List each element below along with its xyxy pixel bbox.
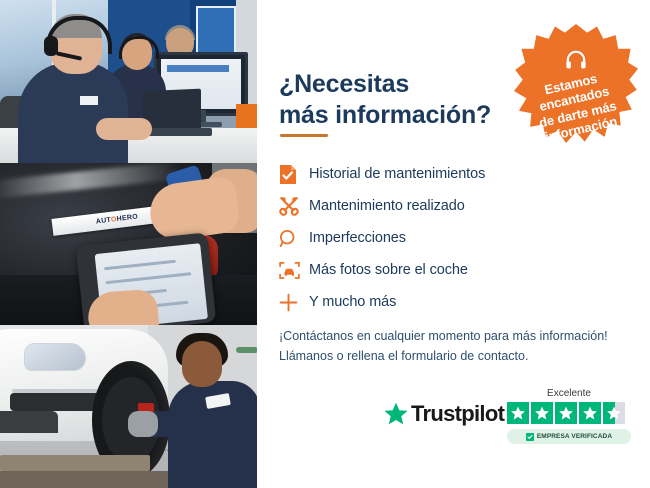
mechanic-head: [182, 341, 222, 387]
feature-item-imperfections: Imperfecciones: [279, 222, 619, 254]
photo-collage: AUTOHERO: [0, 0, 257, 488]
support-badge: Estamos encantados de darte más informac…: [514, 24, 638, 148]
photo-mechanic-inspecting-wheel-on-lift: [0, 325, 257, 488]
star-filled: [507, 402, 529, 424]
feature-item-maintenance-history: Historial de mantenimientos: [279, 158, 619, 190]
lift-platform-lower: [0, 471, 168, 488]
trustpilot-wordmark: Trustpilot: [411, 401, 504, 427]
feature-list: Historial de mantenimientos: [279, 158, 619, 318]
star-half: [603, 402, 625, 424]
wrench-screwdriver-icon: [279, 193, 309, 219]
trustpilot-score-block: Excelente: [507, 388, 631, 444]
monitor-screen-header-bar: [167, 65, 229, 72]
wall-hose: [236, 347, 257, 353]
star-filled: [531, 402, 553, 424]
check-square-icon: [526, 433, 534, 441]
car-lower-grille: [0, 411, 58, 433]
agent-1-body: [18, 62, 128, 163]
photo-call-center-agents-with-headsets: [0, 0, 257, 163]
page-title-line-1: ¿Necesitas: [279, 70, 409, 98]
photo-vehicle-inspection-with-ruler-and-tablet: AUTOHERO: [0, 163, 257, 325]
feature-label: Imperfecciones: [309, 230, 406, 246]
contact-copy: ¡Contáctanos en cualquier momento para m…: [279, 326, 639, 367]
contact-line-1: ¡Contáctanos en cualquier momento para m…: [279, 326, 639, 346]
verified-company-badge: EMPRESA VERIFICADA: [507, 429, 631, 444]
trustpilot-star-icon: [383, 401, 409, 427]
feature-item-much-more: Y mucho más: [279, 286, 619, 318]
trustpilot-star-rating: [507, 402, 631, 424]
star-filled: [555, 402, 577, 424]
title-underline-accent: [280, 134, 328, 137]
trustpilot-rating: Trustpilot Excelente: [383, 388, 633, 454]
feature-label: Historial de mantenimientos: [309, 166, 485, 182]
magnifier-icon: [279, 225, 309, 251]
headset-icon: [565, 50, 587, 70]
agent-1-name-badge: [80, 96, 98, 105]
star-filled: [579, 402, 601, 424]
tablet-text-line: [104, 260, 176, 271]
agent-1-arm: [96, 118, 152, 140]
ruler-brand-text: AUTOHERO: [96, 213, 139, 225]
wall-poster: [196, 6, 236, 58]
trustpilot-rating-label: Excelente: [507, 388, 631, 399]
feature-label: Mantenimiento realizado: [309, 198, 465, 214]
page-title-line-2: más información?: [279, 101, 491, 129]
information-banner: AUTOHERO: [0, 0, 650, 488]
car-photo-scan-icon: [279, 257, 309, 283]
verified-company-label: EMPRESA VERIFICADA: [537, 433, 612, 440]
car-headlight: [24, 343, 86, 371]
lift-platform: [0, 455, 150, 471]
feature-label: Y mucho más: [309, 294, 396, 310]
content-panel: ¿Necesitas más información? Estamos enca…: [257, 0, 650, 488]
tablet-text-line: [105, 272, 191, 284]
mechanic-glove: [128, 411, 158, 437]
trustpilot-logo: Trustpilot: [383, 401, 504, 427]
clipboard-check-icon: [279, 161, 309, 187]
feature-item-maintenance-done: Mantenimiento realizado: [279, 190, 619, 222]
plus-icon: [279, 289, 309, 315]
contact-line-2: Llámanos o rellena el formulario de cont…: [279, 346, 639, 366]
page-title: ¿Necesitas más información?: [279, 69, 529, 132]
feature-label: Más fotos sobre el coche: [309, 262, 468, 278]
feature-item-more-photos: Más fotos sobre el coche: [279, 254, 619, 286]
